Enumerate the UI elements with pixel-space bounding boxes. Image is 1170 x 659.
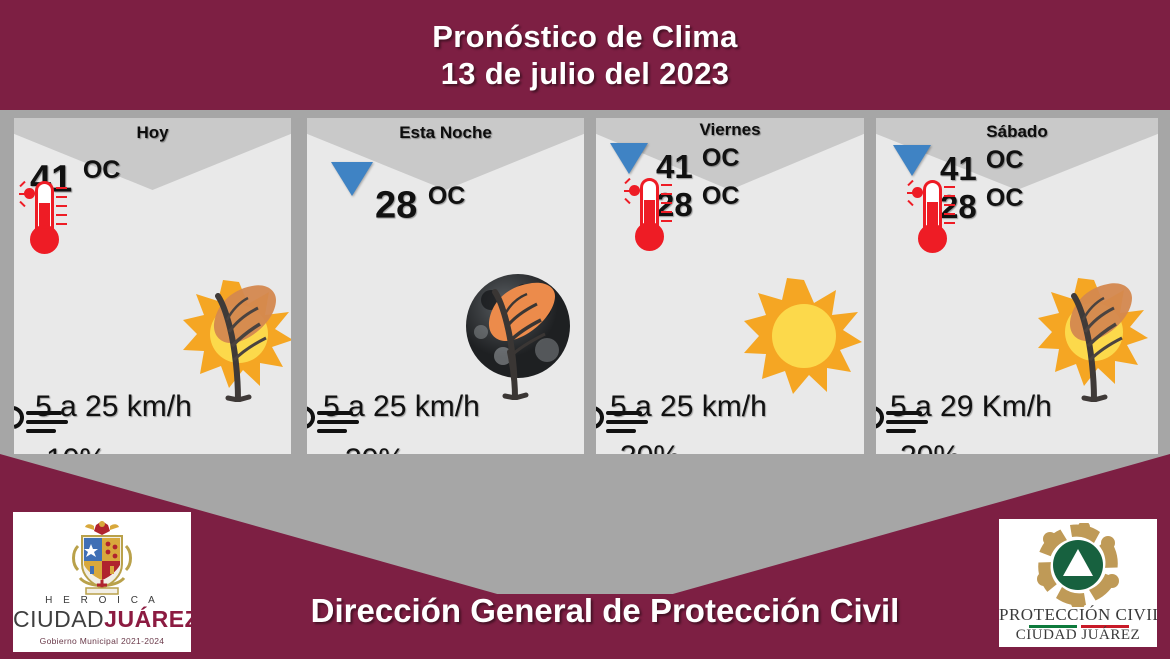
rain-chance-value: 30% [620,440,680,454]
forecast-card-row: Hoy [0,118,1170,454]
wind-row: 5 a 29 Km/h [886,390,1052,424]
card-day-label: Viernes [596,120,864,140]
ciudad-juarez-logo: H E R O I C A CIUDADJUÁREZ Gobierno Muni… [13,512,191,652]
card-day-label: Sábado [876,122,1158,142]
card-day-label: Esta Noche [307,123,584,143]
high-temperature: 41 OC [940,148,1023,186]
wind-row: 5 a 25 km/h [606,390,767,424]
rain-chance-value: 20% [900,440,960,454]
low-temperature: 28 OC [375,184,465,225]
forecast-card-esta-noche: Esta Noche 28 OC [307,118,584,454]
logo-ciudad-juarez-subtext: CIUDAD JUÁREZ [999,627,1157,644]
page-title-line1: Pronóstico de Clima [432,18,737,55]
proteccion-civil-emblem-icon [1030,523,1126,612]
wind-row: 5 a 25 km/h [26,390,192,424]
rain-chance-value: 10% [46,443,106,454]
sun-with-windblown-tree-icon [180,276,291,407]
logo-proteccion-civil-text: PROTECCIÓN CIVIL [999,605,1157,625]
low-temperature-triangle-icon [331,196,373,214]
moon-with-windblown-tree-icon [457,270,579,405]
sun-with-windblown-tree-icon [1034,274,1154,407]
sun-icon [744,276,864,401]
wind-row: 5 a 25 km/h [317,390,480,424]
rain-row: 30% [610,440,680,454]
temperature-block: 28 OC [331,184,465,225]
temperature-block: 41 OC 28 OC [604,146,739,221]
header-banner: Pronóstico de Clima 13 de julio del 2023 [0,0,1170,110]
rain-row: 20% [890,440,960,454]
wind-value: 5 a 29 Km/h [890,390,1052,424]
temperature-block: 41 OC [24,158,120,199]
wind-value: 5 a 25 km/h [35,390,192,424]
rain-row: 10% [34,443,106,454]
wind-value: 5 a 25 km/h [323,390,480,424]
card-day-label: Hoy [14,123,291,143]
footer-title: Dirección General de Protección Civil [225,592,985,630]
infographic-root: Pronóstico de Clima 13 de julio del 2023… [0,0,1170,659]
forecast-card-viernes: Viernes [596,118,864,454]
temperature-block: 41 OC 28 OC [886,148,1023,223]
rain-chance-value: 30% [345,443,405,454]
forecast-card-hoy: Hoy [14,118,291,454]
coat-of-arms-icon [60,518,144,603]
proteccion-civil-logo: PROTECCIÓN CIVIL CIUDAD JUÁREZ [999,519,1157,647]
page-title-line2: 13 de julio del 2023 [441,55,730,92]
low-temperature-triangle-icon [610,174,648,192]
logo-ciudad-juarez-text: CIUDADJUÁREZ [13,608,191,631]
low-temperature-triangle-icon [893,176,931,194]
logo-gobierno-text: Gobierno Municipal 2021-2024 [13,636,191,646]
wind-value: 5 a 25 km/h [610,390,767,424]
logo-heroica-text: H E R O I C A [13,595,191,606]
rain-row: 30% [329,443,405,454]
high-temperature: 41 OC [656,146,739,184]
forecast-card-sabado: Sábado [876,118,1158,454]
